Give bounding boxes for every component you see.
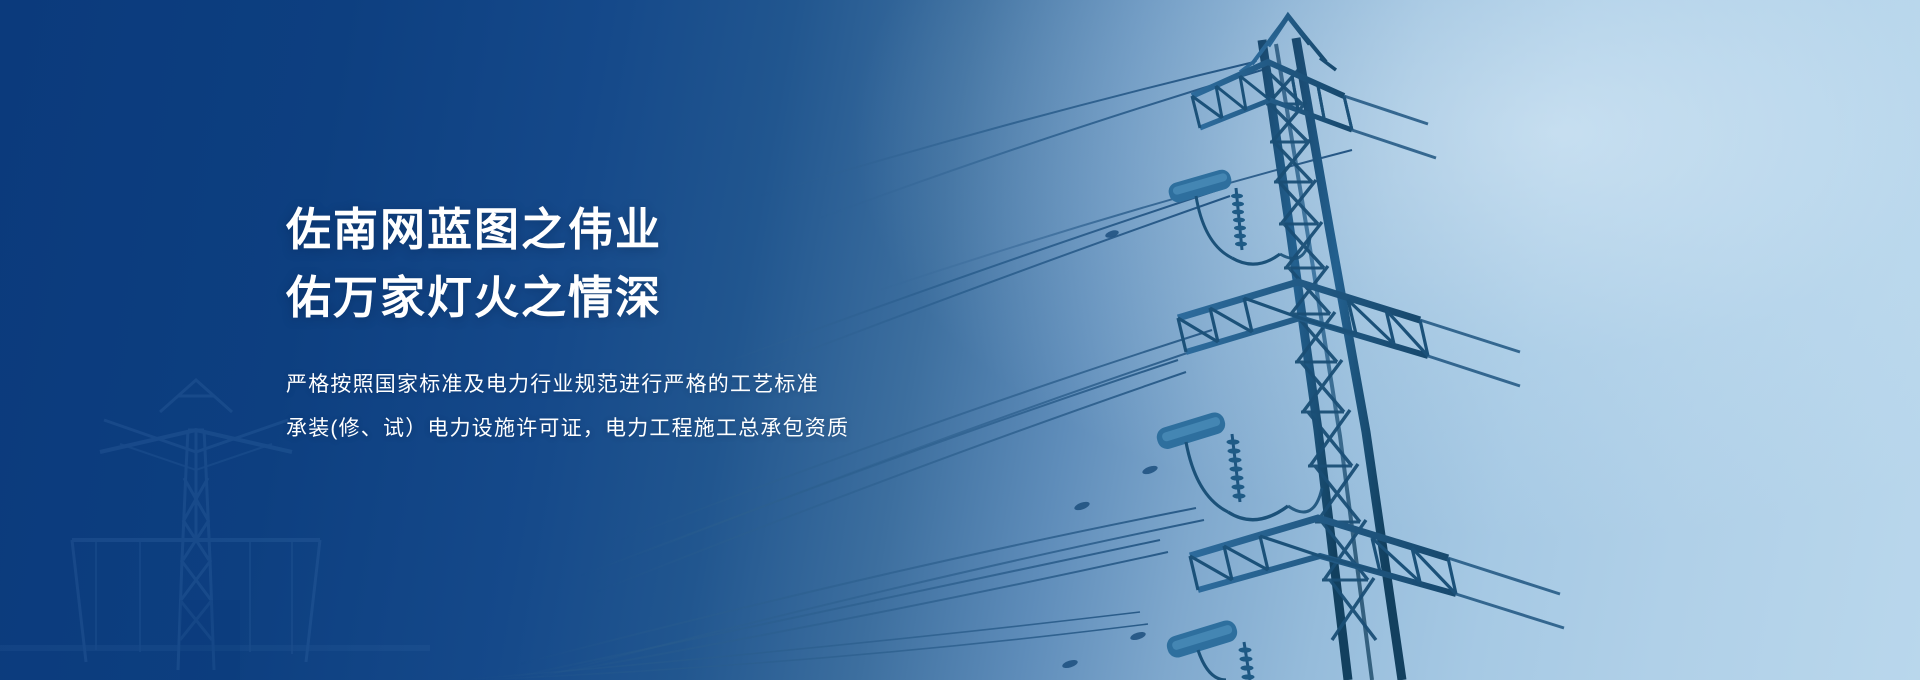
- subtitle-line-1: 严格按照国家标准及电力行业规范进行严格的工艺标准: [286, 363, 1046, 407]
- subtitle-block: 严格按照国家标准及电力行业规范进行严格的工艺标准 承装(修、试）电力设施许可证，…: [286, 363, 1046, 451]
- hero-copy: 佐南网蓝图之伟业 佑万家灯火之情深 严格按照国家标准及电力行业规范进行严格的工艺…: [286, 196, 1046, 451]
- headline-line-2: 佑万家灯火之情深: [286, 264, 1046, 332]
- headline-line-1: 佐南网蓝图之伟业: [286, 196, 1046, 264]
- subtitle-line-2: 承装(修、试）电力设施许可证，电力工程施工总承包资质: [286, 407, 1046, 451]
- right-arm-conductor: [1344, 96, 1564, 628]
- tower-top: [1240, 16, 1336, 72]
- insulator-string: [1154, 410, 1288, 520]
- crossarm: [1190, 518, 1456, 594]
- insulator-string: [1166, 168, 1280, 265]
- hero-banner: 佐南网蓝图之伟业 佑万家灯火之情深 严格按照国家标准及电力行业规范进行严格的工艺…: [0, 0, 1920, 680]
- insulator-string: [1164, 618, 1254, 680]
